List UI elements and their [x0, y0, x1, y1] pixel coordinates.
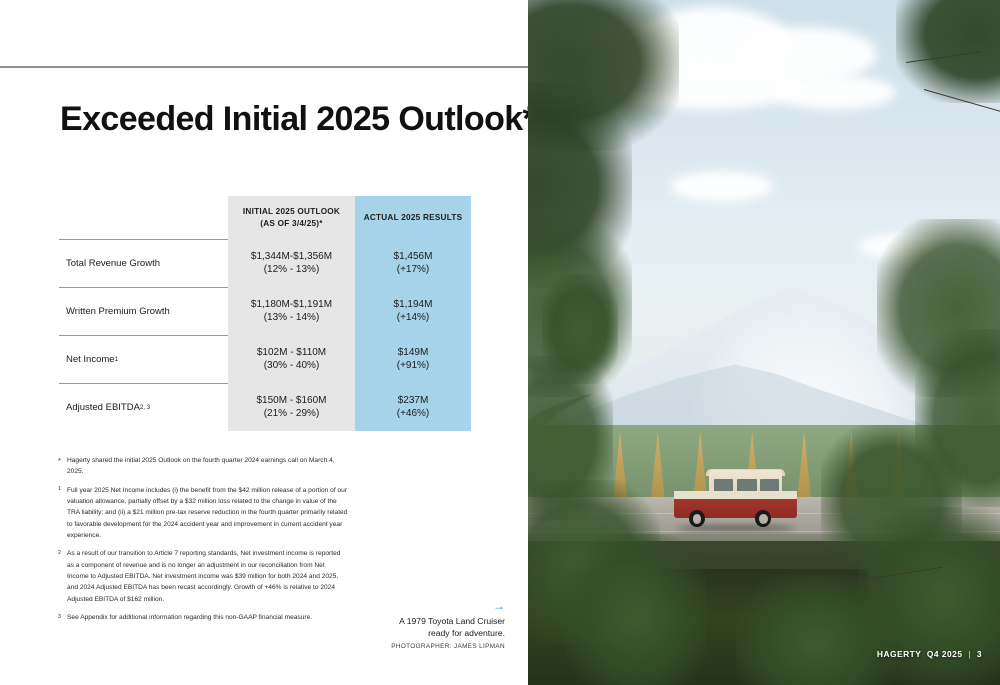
actual-value: $149M: [398, 346, 429, 360]
outlook-value: $102M - $110M: [257, 346, 326, 360]
header-divider: [0, 66, 528, 68]
footnote: 1 Full year 2025 Net Income includes (i)…: [58, 485, 348, 542]
actual-value: $1,194M: [394, 298, 433, 312]
vintage-land-cruiser: [674, 469, 797, 527]
footnote: 3 See Appendix for additional informatio…: [58, 612, 348, 623]
footnote-marker: 3: [58, 613, 61, 622]
table-row: Adjusted EBITDA2, 3 $150M - $160M (21% -…: [59, 383, 471, 431]
outlook-pct: (30% - 40%): [264, 359, 320, 373]
table-header-metric: [59, 196, 228, 239]
row-actual-cell: $149M (+91%): [355, 335, 471, 383]
footer-separator: |: [968, 649, 971, 659]
metric-name: Net Income: [66, 354, 115, 365]
hero-photo: HAGERTY Q4 2025 | 3: [528, 0, 1000, 685]
outlook-pct: (21% - 29%): [264, 407, 320, 421]
metric-name: Written Premium Growth: [66, 306, 170, 317]
vehicle-shadow: [677, 525, 795, 531]
photo-composition: [528, 0, 1000, 685]
row-actual-cell: $237M (+46%): [355, 383, 471, 431]
row-metric-label: Total Revenue Growth: [59, 239, 228, 287]
cloud: [670, 171, 774, 202]
outlook-header-line2: (AS OF 3/4/25)*: [260, 218, 322, 229]
metric-name: Total Revenue Growth: [66, 258, 160, 269]
metric-superscript: 2, 3: [140, 404, 150, 411]
outlook-pct: (13% - 14%): [264, 311, 320, 325]
footer-period: Q4 2025: [927, 649, 963, 659]
row-outlook-cell: $102M - $110M (30% - 40%): [228, 335, 355, 383]
footnote: * Hagerty shared the initial 2025 Outloo…: [58, 455, 348, 478]
foliage-branch: [566, 534, 708, 685]
outlook-value: $150M - $160M: [256, 394, 326, 408]
arrow-right-icon: →: [330, 600, 505, 612]
row-outlook-cell: $1,180M-$1,191M (13% - 14%): [228, 287, 355, 335]
content-panel: Exceeded Initial 2025 Outlook* INITIAL 2…: [0, 0, 528, 685]
footer-page-number: 3: [977, 649, 982, 659]
footnote-marker: 1: [58, 485, 61, 494]
footnote-text: Full year 2025 Net Income includes (i) t…: [67, 487, 347, 539]
footnote: 2 As a result of our transition to Artic…: [58, 548, 348, 605]
actual-pct: (+91%): [397, 359, 430, 373]
footnote-marker: 2: [58, 549, 61, 558]
footer-brand: HAGERTY: [877, 649, 921, 659]
photographer-credit: PHOTOGRAPHER: JAMES LIPMAN: [330, 643, 505, 650]
metric-name: Adjusted EBITDA: [66, 402, 140, 413]
outlook-value: $1,344M-$1,356M: [251, 250, 332, 264]
row-metric-label: Net Income1: [59, 335, 228, 383]
row-outlook-cell: $150M - $160M (21% - 29%): [228, 383, 355, 431]
actual-pct: (+14%): [397, 311, 430, 325]
foliage-branch: [736, 575, 896, 685]
table-header-outlook: INITIAL 2025 OUTLOOK (AS OF 3/4/25)*: [228, 196, 355, 239]
table-row: Net Income1 $102M - $110M (30% - 40%) $1…: [59, 335, 471, 383]
slide-page: Exceeded Initial 2025 Outlook* INITIAL 2…: [0, 0, 1000, 685]
vehicle-beltline: [674, 491, 797, 499]
row-metric-label: Adjusted EBITDA2, 3: [59, 383, 228, 431]
foliage-branch: [896, 0, 1000, 103]
outlook-results-table: INITIAL 2025 OUTLOOK (AS OF 3/4/25)* ACT…: [59, 196, 471, 431]
photo-caption: → A 1979 Toyota Land Cruiser ready for a…: [330, 600, 505, 650]
footnotes-block: * Hagerty shared the initial 2025 Outloo…: [58, 455, 348, 630]
footnote-text: Hagerty shared the initial 2025 Outlook …: [67, 457, 335, 475]
metric-superscript: 1: [115, 356, 118, 363]
outlook-value: $1,180M-$1,191M: [251, 298, 332, 312]
footnote-text: As a result of our transition to Article…: [67, 550, 340, 602]
caption-line-1: A 1979 Toyota Land Cruiser: [330, 615, 505, 627]
cloud: [773, 75, 896, 109]
row-actual-cell: $1,456M (+17%): [355, 239, 471, 287]
row-metric-label: Written Premium Growth: [59, 287, 228, 335]
footnote-text: See Appendix for additional information …: [67, 614, 312, 621]
table-header-row: INITIAL 2025 OUTLOOK (AS OF 3/4/25)* ACT…: [59, 196, 471, 239]
outlook-header-line1: INITIAL 2025 OUTLOOK: [243, 206, 340, 217]
foliage-branch: [542, 274, 618, 384]
actual-value: $1,456M: [394, 250, 433, 264]
page-title: Exceeded Initial 2025 Outlook*: [60, 100, 535, 139]
footnote-marker: *: [58, 455, 61, 468]
row-actual-cell: $1,194M (+14%): [355, 287, 471, 335]
actual-value: $237M: [398, 394, 429, 408]
page-footer: HAGERTY Q4 2025 | 3: [877, 649, 982, 659]
outlook-pct: (12% - 13%): [264, 263, 320, 277]
table-row: Written Premium Growth $1,180M-$1,191M (…: [59, 287, 471, 335]
table-row: Total Revenue Growth $1,344M-$1,356M (12…: [59, 239, 471, 287]
row-outlook-cell: $1,344M-$1,356M (12% - 13%): [228, 239, 355, 287]
caption-line-2: ready for adventure.: [330, 627, 505, 639]
table-header-actual: ACTUAL 2025 RESULTS: [355, 196, 471, 239]
actual-pct: (+46%): [397, 407, 430, 421]
actual-pct: (+17%): [397, 263, 430, 277]
